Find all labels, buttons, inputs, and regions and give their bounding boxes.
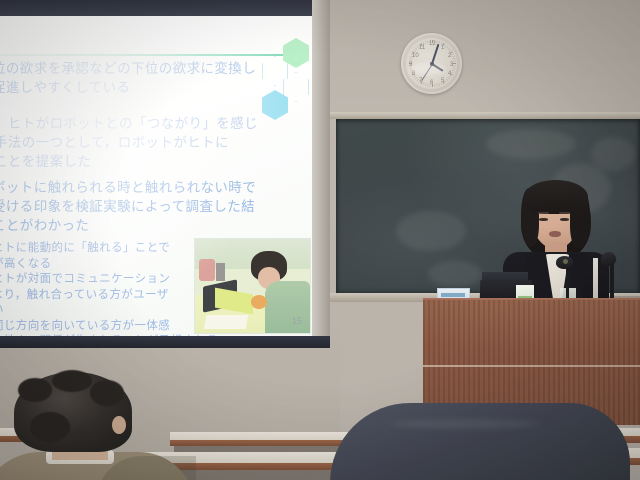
clock-tick	[427, 40, 429, 43]
slide-text-block-a: 位の欲求を承認などの下位の欲求に変換し 促進しやすくしている	[0, 60, 256, 98]
screen-frame-bottom	[0, 336, 330, 348]
clock-numeral: 11	[419, 45, 425, 51]
presenter-eye-left	[539, 218, 548, 221]
clock-numeral: 6	[430, 80, 433, 86]
clock-tick	[427, 83, 429, 86]
clock-tick	[436, 83, 438, 86]
clock-numeral: 2	[448, 53, 451, 59]
podium-trim-line	[423, 365, 640, 367]
wall-clock: 12 1 2 3 4 5 6 7 8 9 10 11	[401, 33, 462, 94]
clock-numeral: 1	[441, 45, 444, 51]
clock-numeral: 10	[412, 53, 419, 59]
screen-frame-right	[312, 0, 330, 348]
clock-tick	[438, 83, 440, 86]
screen-frame-top	[0, 0, 330, 16]
presenter-mouth	[549, 231, 561, 237]
clock-numeral: 5	[441, 78, 444, 84]
clock-numeral: 12	[429, 41, 436, 47]
clock-glass-reflection	[409, 63, 445, 75]
presenter-brow-left	[538, 212, 549, 214]
audience-right-jacket	[330, 403, 630, 480]
lecture-hall-photo: 12 1 2 3 4 5 6 7 8 9 10 11 位の欲求を承認などの下位の…	[0, 0, 640, 480]
clock-numeral: 4	[448, 71, 451, 77]
clock-tick	[424, 83, 426, 86]
projection-screen: 位の欲求を承認などの下位の欲求に変換し 促進しやすくしている ，ヒトがロボットと…	[0, 16, 314, 336]
audience-right-highlight	[390, 419, 540, 429]
slide-text-block-d: ヒトに能動的に「触れる」ことで が高くなる ヒトが対面でコミュニケーション より…	[0, 240, 218, 336]
presenter-brow-right	[559, 212, 570, 214]
slide-text-block-b: ，ヒトがロボットとの「つながり」を感じ 手法の一つとして，ロボットがヒトに こと…	[0, 115, 258, 172]
clock-numeral: 3	[450, 62, 453, 68]
clock-tick	[452, 58, 455, 60]
slide-page-number: 15	[292, 316, 302, 326]
slide-text-block-c: ボットに触れられる時と触れられない時で 受ける印象を検証実験によって調査した結 …	[0, 179, 256, 236]
clock-tick	[434, 84, 435, 87]
microphone-indicator-left	[563, 259, 568, 264]
presenter-eye-right	[560, 218, 569, 221]
presenter-hair-fringe	[524, 180, 588, 214]
microphone-white-body	[593, 258, 598, 300]
audience-left-ear	[112, 416, 126, 434]
audience-front-left	[0, 372, 210, 480]
audience-front-right	[330, 395, 640, 480]
wall-rail-molding	[318, 112, 640, 119]
slide-accent-line	[0, 54, 290, 56]
